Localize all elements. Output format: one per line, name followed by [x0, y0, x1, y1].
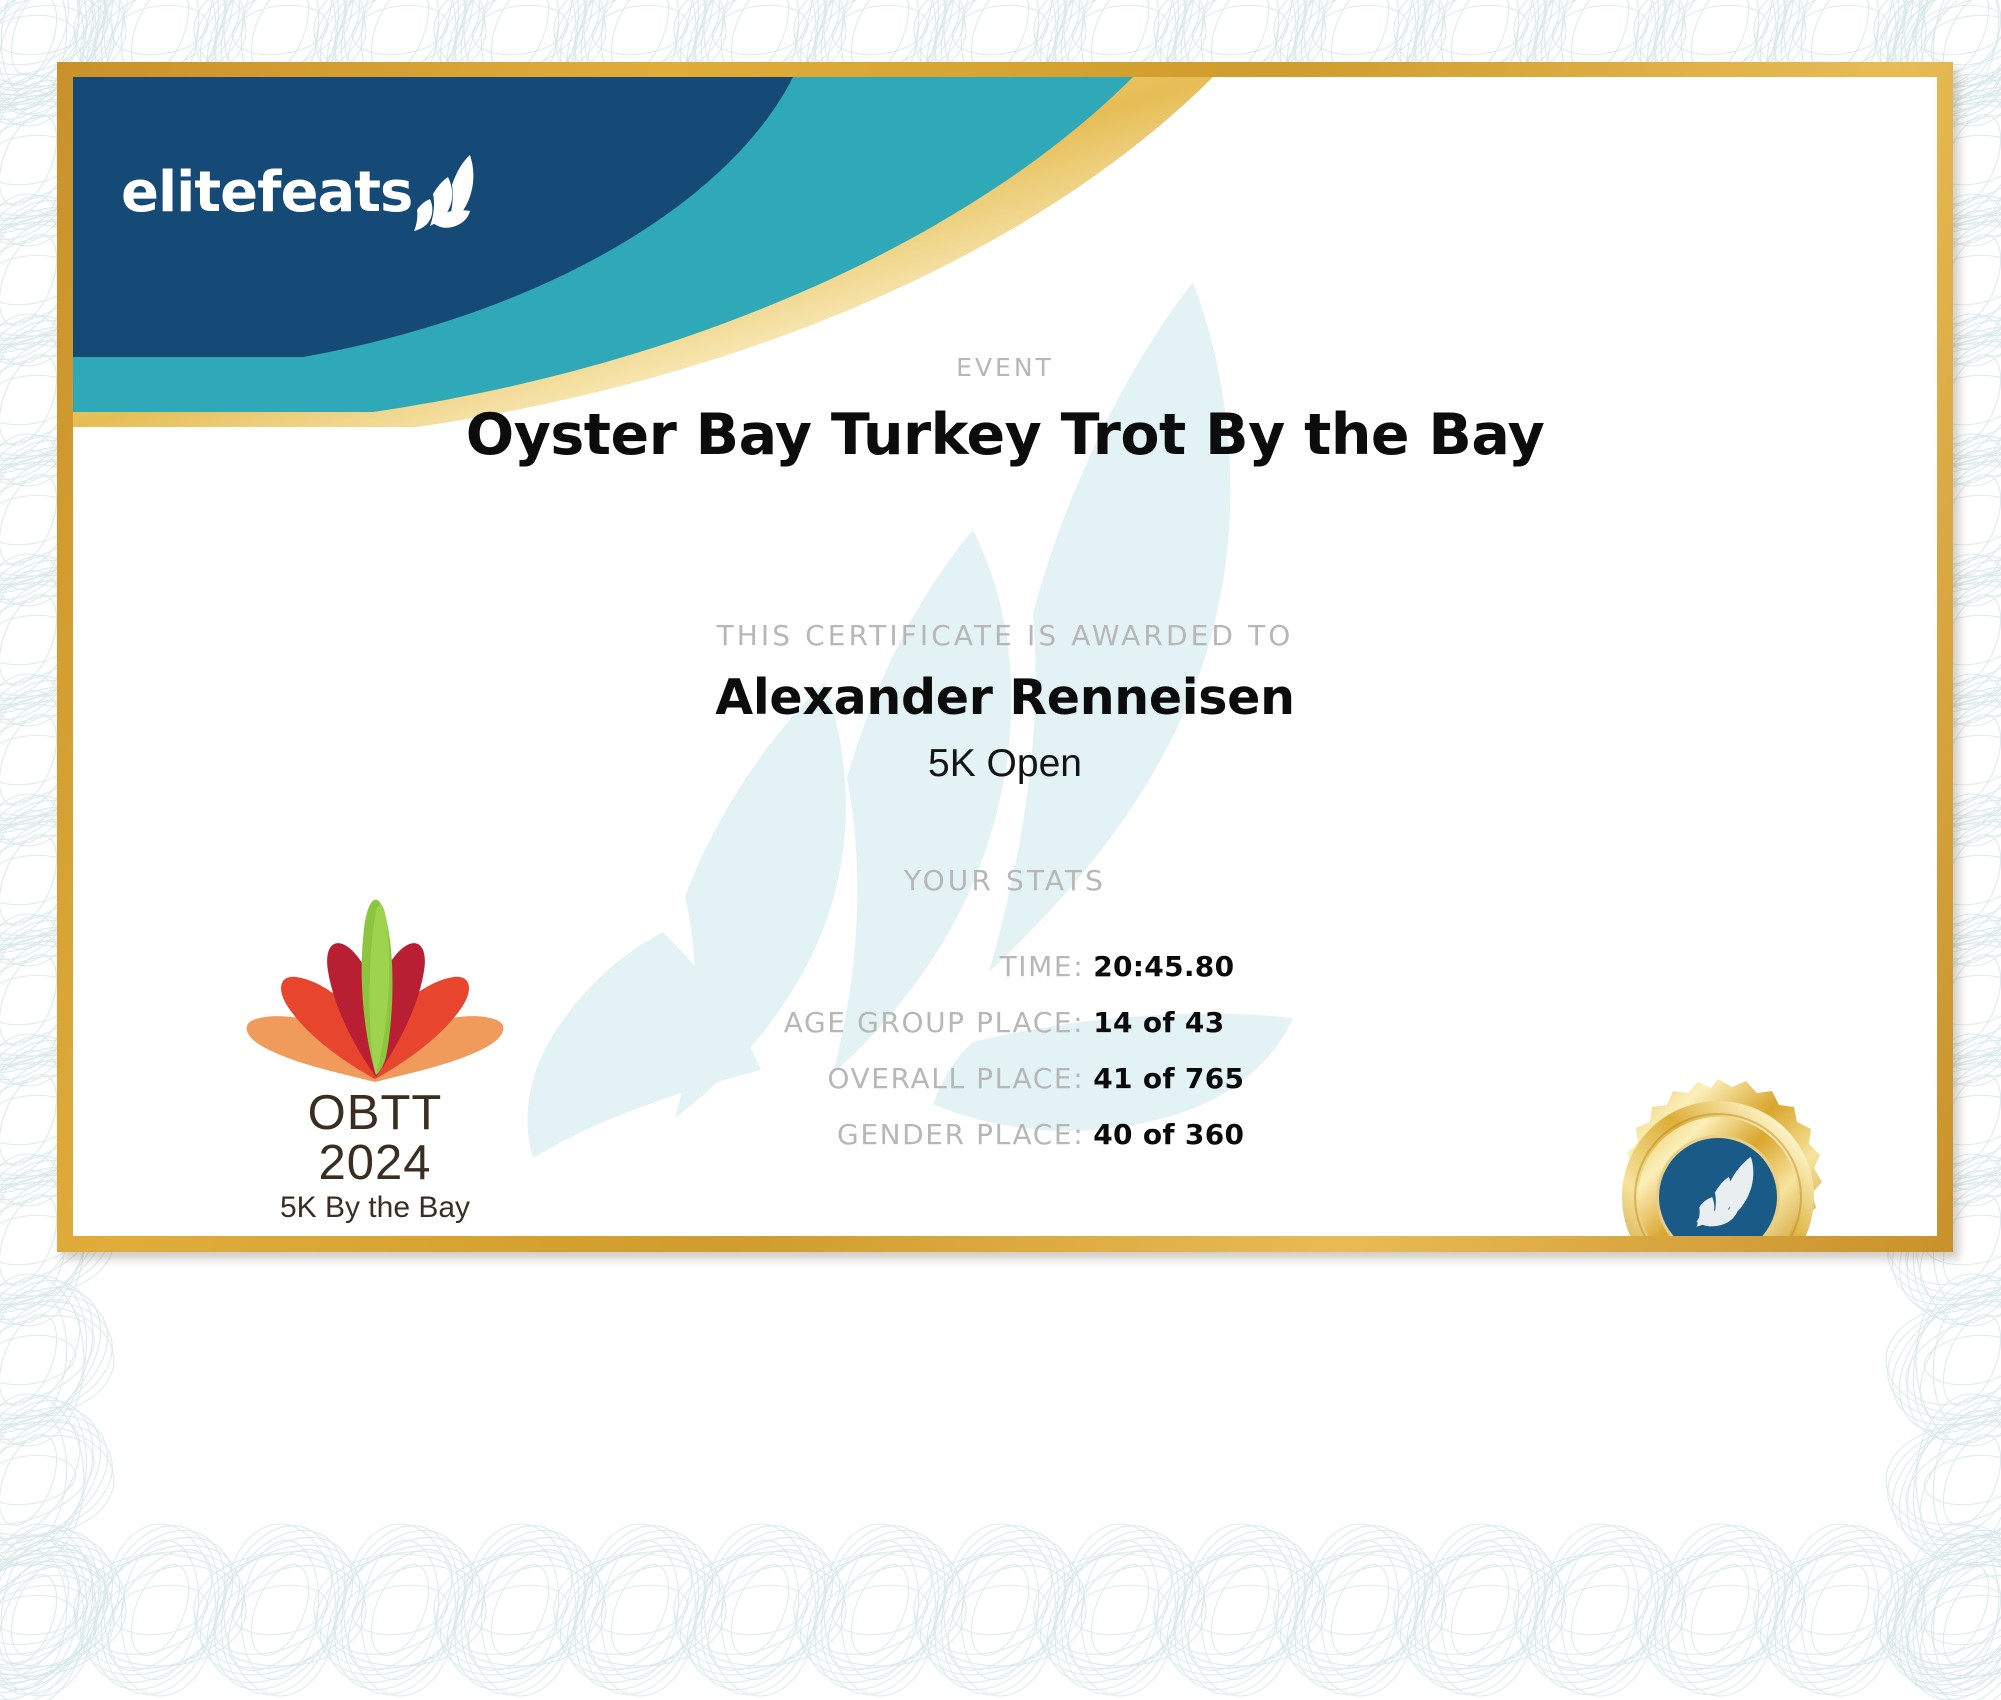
- recipient-name: Alexander Renneisen: [73, 669, 1937, 726]
- stat-label: TIME:: [766, 939, 1094, 995]
- finisher-medal-icon: 2024: [1568, 1075, 1868, 1236]
- winged-foot-icon: [414, 153, 486, 231]
- event-logo-obtt: OBTT 2024 5K By the Bay: [215, 877, 535, 1236]
- event-logo-subtitle: 5K By the Bay: [215, 1189, 535, 1227]
- stat-label: OVERALL PLACE:: [766, 1051, 1094, 1107]
- certificate-body: elitefeats EVENT Oyster Bay Turkey Trot …: [73, 77, 1937, 1236]
- event-logo-abbr: OBTT: [215, 1089, 535, 1138]
- brand-wordmark: elitefeats: [121, 165, 412, 221]
- turkey-feathers-icon: [230, 877, 520, 1097]
- stat-value: 41 of 765: [1093, 1051, 1244, 1107]
- certificate-content: EVENT Oyster Bay Turkey Trot By the Bay …: [73, 77, 1937, 1236]
- division-name: 5K Open: [73, 742, 1937, 786]
- awarded-to-label: THIS CERTIFICATE IS AWARDED TO: [73, 619, 1937, 652]
- event-logo-year: 2024: [215, 1138, 535, 1189]
- event-title: Oyster Bay Turkey Trot By the Bay: [73, 402, 1937, 468]
- event-label: EVENT: [73, 353, 1937, 382]
- stat-value: 20:45.80: [1093, 939, 1244, 995]
- certificate-page: elitefeats EVENT Oyster Bay Turkey Trot …: [0, 0, 2001, 1700]
- stat-label: GENDER PLACE:: [766, 1107, 1094, 1163]
- stat-value: 14 of 43: [1093, 995, 1244, 1051]
- stat-value: 40 of 360: [1093, 1107, 1244, 1163]
- gold-certificate-frame: elitefeats EVENT Oyster Bay Turkey Trot …: [57, 62, 1953, 1252]
- stat-label: AGE GROUP PLACE:: [766, 995, 1094, 1051]
- elitefeats-logo: elitefeats: [121, 155, 486, 231]
